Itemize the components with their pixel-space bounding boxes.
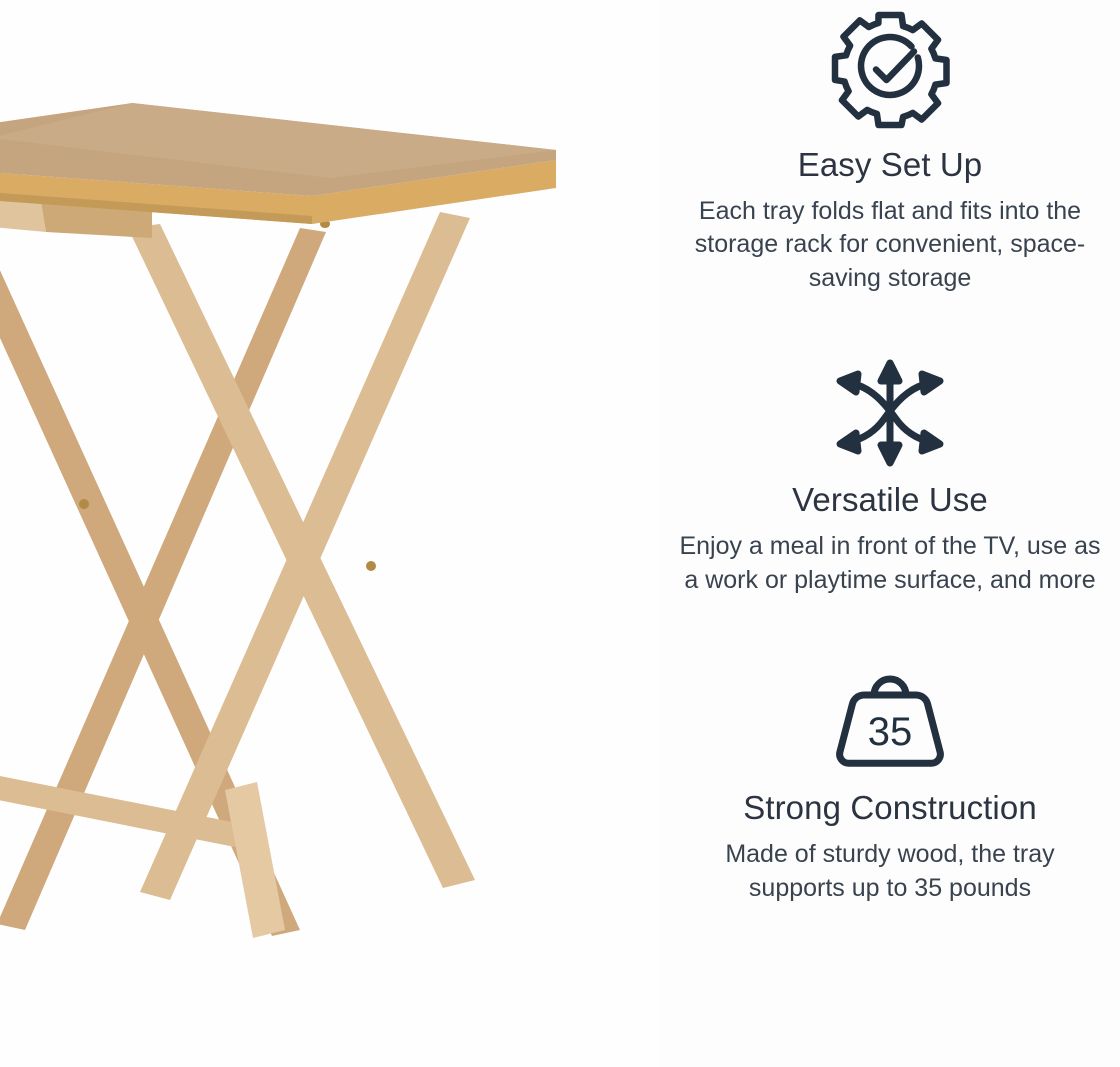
- feature-item-versatile-use: Versatile Use Enjoy a meal in front of t…: [670, 357, 1110, 597]
- feature-title: Versatile Use: [792, 481, 988, 519]
- feature-title: Strong Construction: [743, 789, 1037, 827]
- folding-tray-table-illustration: [0, 0, 660, 1067]
- weight-35-icon: 35: [826, 667, 954, 777]
- multi-direction-arrows-icon: [826, 357, 954, 469]
- table-front-leg-foreground: [225, 782, 285, 938]
- gear-check-icon: [826, 6, 954, 134]
- product-infographic: Easy Set Up Each tray folds flat and fit…: [0, 0, 1120, 1067]
- feature-description: Made of sturdy wood, the tray supports u…: [674, 838, 1106, 905]
- product-photo: [0, 0, 660, 1067]
- feature-title: Easy Set Up: [798, 146, 983, 184]
- feature-description: Enjoy a meal in front of the TV, use as …: [674, 530, 1106, 597]
- feature-item-strong-construction: 35 Strong Construction Made of sturdy wo…: [670, 667, 1110, 905]
- feature-description: Each tray folds flat and fits into the s…: [674, 195, 1106, 296]
- weight-value: 35: [868, 710, 913, 754]
- feature-item-easy-set-up: Easy Set Up Each tray folds flat and fit…: [670, 6, 1110, 295]
- feature-list: Easy Set Up Each tray folds flat and fit…: [660, 0, 1120, 1067]
